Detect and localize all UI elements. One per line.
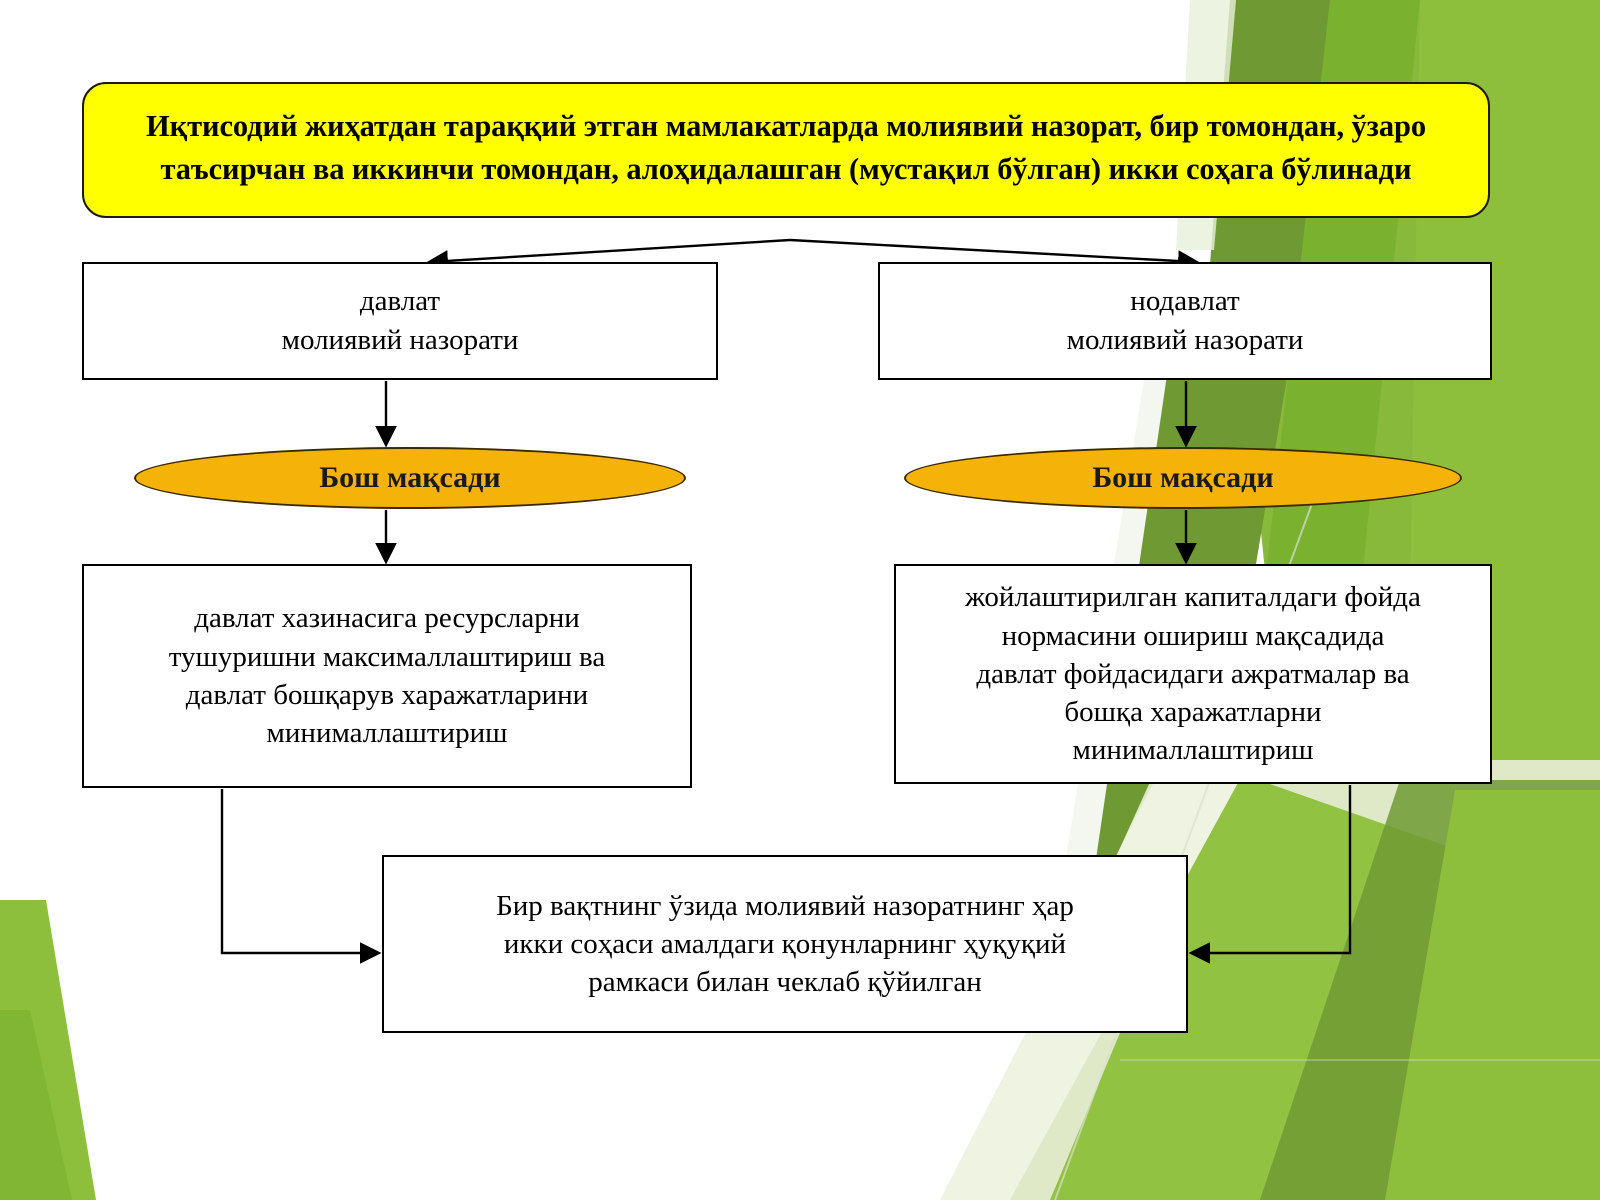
node-conclusion: Бир вақтнинг ўзида молиявий назоратнинг … [382,855,1188,1033]
right-category-text: нодавлат молиявий назорати [1067,282,1304,361]
left-detail-line-3: давлат бошқарув харажатларини [169,676,605,714]
node-left-detail: давлат хазинасига ресурсларни тушуришни … [82,564,692,788]
left-detail-text: давлат хазинасига ресурсларни тушуришни … [169,599,605,752]
title-banner: Иқтисодий жиҳатдан тараққий этган мамлак… [82,82,1490,218]
right-detail-text: жойлаштирилган капиталдаги фойда нормаси… [965,578,1421,769]
left-detail-line-1: давлат хазинасига ресурсларни [169,599,605,637]
right-detail-line-3: давлат фойдасидаги ажратмалар ва [965,655,1421,693]
right-detail-line-5: минималлаштириш [965,731,1421,769]
page-title: Иқтисодий жиҳатдан тараққий этган мамлак… [110,105,1462,192]
conclusion-line-2: икки соҳаси амалдаги қонунларнинг ҳуқуқи… [496,925,1074,963]
title-line-3: икки соҳага бўлинади [1109,152,1412,186]
left-category-line-1: давлат [282,282,519,321]
node-left-goal-ellipse: Бош мақсади [134,447,686,509]
conclusion-line-3: рамкаси билан чеклаб қўйилган [496,963,1074,1001]
right-detail-line-1: жойлаштирилган капиталдаги фойда [965,578,1421,616]
node-left-category: давлат молиявий назорати [82,262,718,380]
title-line-1: Иқтисодий жиҳатдан тараққий этган мамлак… [146,109,1199,143]
slide-canvas: Иқтисодий жиҳатдан тараққий этган мамлак… [0,0,1600,1200]
node-right-category: нодавлат молиявий назорати [878,262,1492,380]
left-category-line-2: молиявий назорати [282,321,519,360]
left-goal-label: Бош мақсади [319,461,500,495]
left-category-text: давлат молиявий назорати [282,282,519,361]
conclusion-text: Бир вақтнинг ўзида молиявий назоратнинг … [496,887,1074,1002]
node-right-goal-ellipse: Бош мақсади [904,447,1462,509]
right-detail-line-2: нормасини ошириш мақсадида [965,617,1421,655]
right-detail-line-4: бошқа харажатларни [965,693,1421,731]
left-detail-line-2: тушуришни максималлаштириш ва [169,638,605,676]
node-right-detail: жойлаштирилган капиталдаги фойда нормаси… [894,564,1492,784]
conclusion-line-1: Бир вақтнинг ўзида молиявий назоратнинг … [496,887,1074,925]
right-goal-label: Бош мақсади [1092,461,1273,495]
right-category-line-1: нодавлат [1067,282,1304,321]
left-detail-line-4: минималлаштириш [169,714,605,752]
right-category-line-2: молиявий назорати [1067,321,1304,360]
